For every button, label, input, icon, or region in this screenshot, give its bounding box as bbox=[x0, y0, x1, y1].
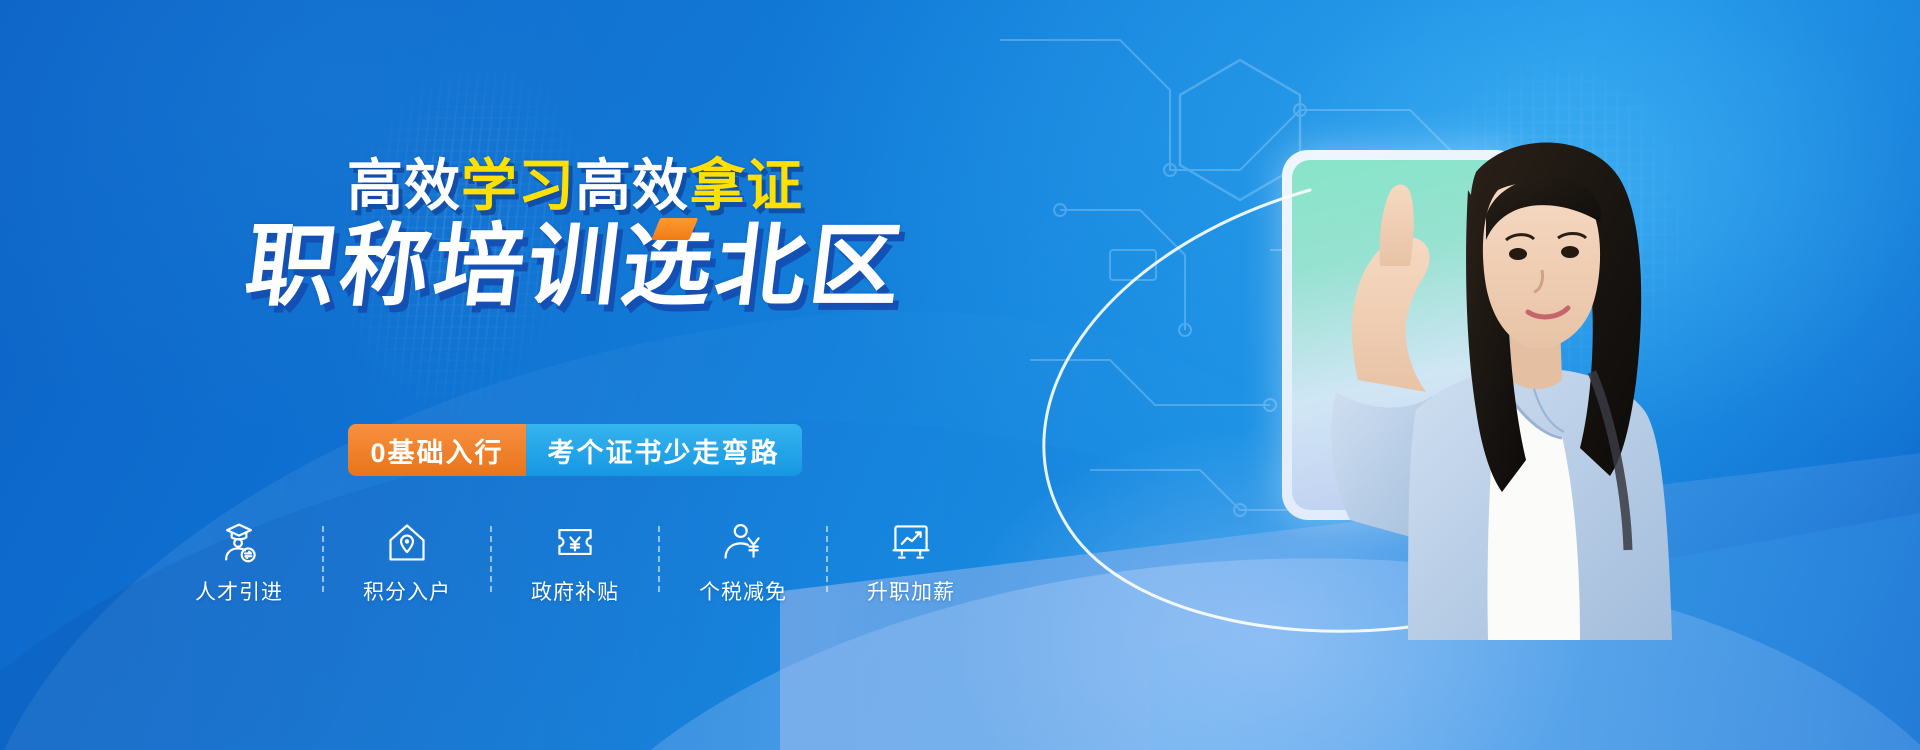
feature-item-tax-reduction[interactable]: 个税减免 bbox=[676, 520, 810, 606]
feature-label: 积分入户 bbox=[363, 576, 451, 606]
headline-seg-1: 高效 bbox=[347, 154, 461, 217]
feature-label: 升职加薪 bbox=[867, 576, 955, 606]
chart-board-icon bbox=[889, 520, 933, 564]
badge-left-label: 0基础入行 bbox=[348, 424, 525, 476]
house-pin-icon bbox=[385, 520, 429, 564]
feature-divider bbox=[826, 526, 828, 592]
headline-seg-3: 高效 bbox=[575, 154, 689, 217]
feature-item-talent-import[interactable]: 人才引进 bbox=[172, 520, 306, 606]
feature-list: 人才引进 积分入户 bbox=[0, 520, 1150, 606]
feature-item-promotion-raise[interactable]: 升职加薪 bbox=[844, 520, 978, 606]
feature-divider bbox=[658, 526, 660, 592]
headline-primary: 高效学习高效拿证 bbox=[0, 158, 1150, 214]
headline-seg-2: 学习 bbox=[461, 154, 575, 217]
feature-label: 个税减免 bbox=[699, 576, 787, 606]
tagline-badge: 0基础入行 考个证书少走弯路 bbox=[0, 424, 1150, 476]
graduate-person-icon bbox=[217, 520, 261, 564]
presenter-photo bbox=[1240, 80, 1700, 640]
coupon-yuan-icon bbox=[553, 520, 597, 564]
copy-block: 高效学习高效拿证 职称培训选北区 0基础入行 考个证书少走弯路 bbox=[0, 0, 1150, 750]
headline-secondary-text: 职称培训选北区 bbox=[240, 217, 910, 317]
promo-banner: 高效学习高效拿证 职称培训选北区 0基础入行 考个证书少走弯路 bbox=[0, 0, 1920, 750]
feature-item-points-residency[interactable]: 积分入户 bbox=[340, 520, 474, 606]
feature-label: 人才引进 bbox=[195, 576, 283, 606]
person-yuan-icon bbox=[721, 520, 765, 564]
badge-right-label: 考个证书少走弯路 bbox=[526, 424, 802, 476]
feature-item-government-subsidy[interactable]: 政府补贴 bbox=[508, 520, 642, 606]
feature-label: 政府补贴 bbox=[531, 576, 619, 606]
headline-secondary: 职称培训选北区 bbox=[0, 222, 1156, 312]
feature-divider bbox=[490, 526, 492, 592]
headline-seg-4: 拿证 bbox=[689, 154, 803, 217]
feature-divider bbox=[322, 526, 324, 592]
